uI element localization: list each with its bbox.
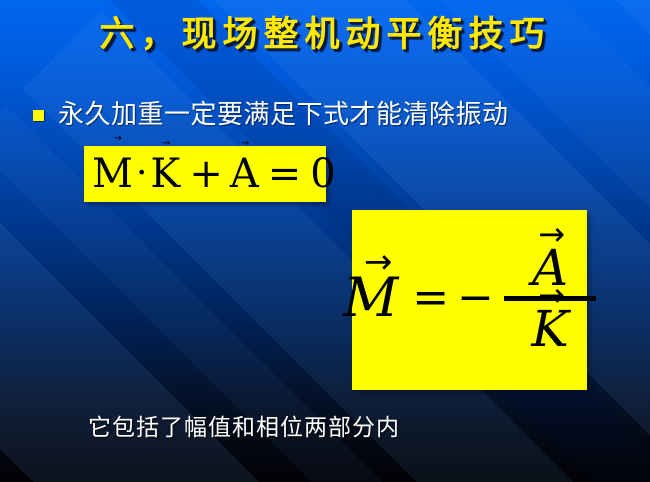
vector-k: → K	[150, 154, 180, 194]
operator-minus: −	[457, 276, 494, 320]
fraction: → A → K	[504, 242, 596, 355]
vector-arrow-icon: →	[241, 139, 249, 149]
vector-arrow-icon: →	[538, 279, 563, 311]
square-bullet-icon	[33, 110, 44, 121]
vector-m: → M	[343, 271, 398, 325]
operator-plus: +	[180, 154, 230, 194]
operator-equals: =	[412, 276, 449, 320]
formula-box-primary: → M · → K + → A = 0	[84, 146, 326, 202]
fraction-denominator: → K	[527, 303, 572, 355]
vector-a: → A	[230, 154, 259, 194]
vector-k: → K	[531, 303, 568, 355]
vector-arrow-icon: →	[364, 245, 391, 279]
vector-m: → M	[92, 154, 133, 194]
symbol-a: A	[230, 154, 259, 194]
vector-arrow-icon: →	[113, 134, 121, 144]
operator-dot: ·	[133, 154, 150, 194]
vector-arrow-icon: →	[538, 218, 563, 250]
equation-two: → M = − → A → K	[352, 210, 587, 390]
formula-box-secondary: → M = − → A → K	[352, 210, 587, 390]
slide-caption: 它包括了幅值和相位两部分内	[88, 414, 400, 442]
symbol-zero: 0	[308, 154, 337, 194]
equation-one: → M · → K + → A = 0	[84, 146, 326, 202]
symbol-k: K	[150, 154, 180, 194]
vector-arrow-icon: →	[162, 139, 170, 149]
streak-band	[0, 324, 299, 482]
slide-title: 六，现场整机动平衡技巧	[0, 13, 650, 57]
bullet-list-item: 永久加重一定要满足下式才能清除振动	[33, 100, 509, 130]
presentation-slide: 六，现场整机动平衡技巧 永久加重一定要满足下式才能清除振动 → M · → K …	[0, 0, 650, 482]
bullet-item-label: 永久加重一定要满足下式才能清除振动	[58, 100, 509, 130]
symbol-m: M	[92, 154, 133, 194]
operator-equals: =	[259, 154, 309, 194]
